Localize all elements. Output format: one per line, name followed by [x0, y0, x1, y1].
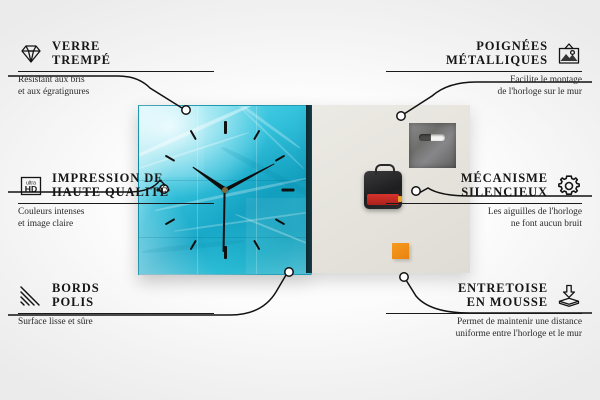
callout-description: Couleurs intenses et image claire	[18, 207, 214, 230]
callout-mecanisme-silencieux: MÉCANISME SILENCIEUX Les aiguilles de l'…	[386, 172, 582, 230]
callout-poignees-metalliques: POIGNÉES MÉTALLIQUES Facilite le montage…	[386, 40, 582, 98]
clock-center-cap	[222, 187, 228, 193]
callout-description: Surface lisse et sûre	[18, 317, 214, 328]
callout-bords-polis: BORDS POLIS Surface lisse et sûre	[18, 282, 214, 329]
svg-text:HD: HD	[25, 184, 37, 194]
callout-header: MÉCANISME SILENCIEUX	[386, 172, 582, 199]
picture-frame-hanger-icon	[556, 41, 582, 67]
polished-edges-icon	[18, 283, 44, 309]
hanger-slot	[419, 134, 445, 141]
callout-divider	[18, 203, 214, 204]
callout-divider	[386, 71, 582, 72]
gear-icon	[556, 173, 582, 199]
callout-description: Les aiguilles de l'horloge ne font aucun…	[386, 207, 582, 230]
callout-header: ultra HD IMPRESSION DE HAUTE QUALITÉ	[18, 172, 214, 199]
callout-divider	[18, 71, 214, 72]
metal-hanger-plate	[409, 123, 456, 168]
callout-title: POIGNÉES MÉTALLIQUES	[446, 40, 548, 67]
callout-entretoise-en-mousse: ENTRETOISE EN MOUSSE Permet de maintenir…	[386, 282, 582, 340]
callout-description: Résistant aux bris et aux égratignures	[18, 75, 214, 98]
ultra-hd-icon: ultra HD	[18, 173, 44, 199]
callout-divider	[386, 203, 582, 204]
callout-header: ENTRETOISE EN MOUSSE	[386, 282, 582, 309]
foam-spacer	[392, 243, 409, 259]
callout-verre-trempe: VERRE TREMPÉ Résistant aux bris et aux é…	[18, 40, 214, 98]
callout-description: Facilite le montage de l'horloge sur le …	[386, 75, 582, 98]
callout-header: POIGNÉES MÉTALLIQUES	[386, 40, 582, 67]
callout-description: Permet de maintenir une distance uniform…	[386, 317, 582, 340]
callout-impression-haute-qualite: ultra HD IMPRESSION DE HAUTE QUALITÉ Cou…	[18, 172, 214, 230]
callout-header: BORDS POLIS	[18, 282, 214, 309]
callout-header: VERRE TREMPÉ	[18, 40, 214, 67]
diamond-icon	[18, 41, 44, 67]
callout-title: ENTRETOISE EN MOUSSE	[458, 282, 548, 309]
callout-title: IMPRESSION DE HAUTE QUALITÉ	[52, 172, 169, 199]
callout-divider	[386, 313, 582, 314]
callout-title: VERRE TREMPÉ	[52, 40, 111, 67]
callout-title: MÉCANISME SILENCIEUX	[461, 172, 548, 199]
clock-second-hand	[223, 190, 226, 252]
infographic-canvas: VERRE TREMPÉ Résistant aux bris et aux é…	[0, 0, 600, 400]
clock-minute-hand	[224, 162, 275, 192]
foam-spacer-icon	[556, 283, 582, 309]
callout-title: BORDS POLIS	[52, 282, 100, 309]
callout-divider	[18, 313, 214, 314]
